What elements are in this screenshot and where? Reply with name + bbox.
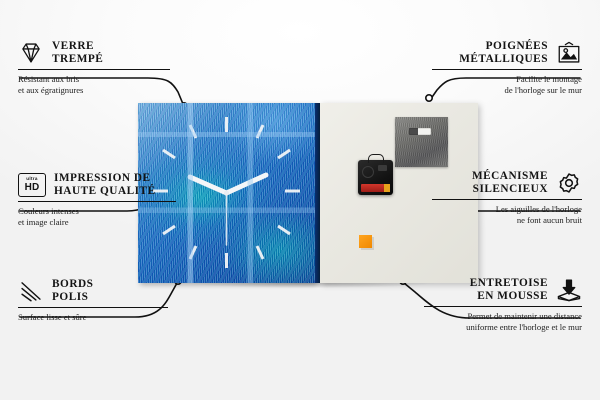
feature-header: POIGNÉES MÉTALLIQUES: [432, 40, 582, 66]
desc-line-2: de l'horloge sur le mur: [432, 85, 582, 96]
feature-description: Résistant aux bris et aux égratignures: [18, 74, 170, 95]
feature-header: ultra HD IMPRESSION DE HAUTE QUALITÉ: [18, 172, 176, 198]
divider: [18, 307, 168, 308]
title-line-2: HAUTE QUALITÉ: [54, 185, 156, 198]
feature-header: MÉCANISME SILENCIEUX: [432, 170, 582, 196]
desc-line-1: Facilite le montage: [432, 74, 582, 85]
desc-line-1: Les aiguilles de l'horloge: [432, 204, 582, 215]
feature-description: Couleurs intenses et image claire: [18, 206, 176, 227]
quartz-mechanism: [358, 160, 393, 195]
feature-description: Facilite le montage de l'horloge sur le …: [432, 74, 582, 95]
feature-title: MÉCANISME SILENCIEUX: [472, 170, 548, 196]
hd-label: HD: [25, 183, 40, 193]
battery: [361, 184, 390, 192]
feature-header: ENTRETOISE EN MOUSSE: [424, 277, 582, 303]
title-line-2: TREMPÉ: [52, 53, 103, 66]
feature-title: IMPRESSION DE HAUTE QUALITÉ: [54, 172, 156, 198]
clock-hour-hand: [190, 177, 227, 193]
infographic-canvas: VERRE TREMPÉ Résistant aux bris et aux é…: [0, 0, 600, 400]
divider: [432, 199, 582, 200]
metal-hanger-plate: [395, 117, 448, 167]
divider: [18, 69, 170, 70]
title-line-1: IMPRESSION DE: [54, 172, 156, 185]
desc-line-1: Couleurs intenses: [18, 206, 176, 217]
product-clock: [138, 103, 478, 283]
feature-header: BORDS POLIS: [18, 278, 168, 304]
diamond-icon: [18, 40, 44, 66]
desc-line-2: et image claire: [18, 217, 176, 228]
title-line-1: VERRE: [52, 40, 103, 53]
feature-print-quality: ultra HD IMPRESSION DE HAUTE QUALITÉ Cou…: [18, 172, 176, 228]
feature-foam-spacer: ENTRETOISE EN MOUSSE Permet de maintenir…: [424, 277, 582, 333]
hanger-slot: [409, 128, 431, 135]
feature-description: Permet de maintenir une distance uniform…: [424, 311, 582, 332]
desc-line-1: Permet de maintenir une distance: [424, 311, 582, 322]
feature-title: POIGNÉES MÉTALLIQUES: [459, 40, 548, 66]
title-line-2: POLIS: [52, 291, 93, 304]
title-line-2: MÉTALLIQUES: [459, 53, 548, 66]
feature-polished-edges: BORDS POLIS Surface lisse et sûre: [18, 278, 168, 323]
clock-minute-hand: [227, 175, 267, 193]
mechanism-chip: [378, 165, 387, 171]
desc-line-2: et aux égratignures: [18, 85, 170, 96]
feature-description: Les aiguilles de l'horloge ne font aucun…: [432, 204, 582, 225]
title-line-1: MÉCANISME: [472, 170, 548, 183]
title-line-1: ENTRETOISE: [470, 277, 548, 290]
framed-picture-hanger-icon: [556, 40, 582, 66]
mechanism-hook: [368, 154, 384, 163]
feature-title: VERRE TREMPÉ: [52, 40, 103, 66]
feature-title: ENTRETOISE EN MOUSSE: [470, 277, 548, 303]
divider: [18, 201, 176, 202]
feature-tempered-glass: VERRE TREMPÉ Résistant aux bris et aux é…: [18, 40, 170, 96]
diagonal-lines-icon: [18, 278, 44, 304]
title-line-2: EN MOUSSE: [470, 290, 548, 303]
foam-spacer: [359, 235, 372, 248]
mechanism-dial: [362, 166, 374, 178]
feature-silent-mechanism: MÉCANISME SILENCIEUX Les aiguilles de l'…: [432, 170, 582, 226]
desc-line-1: Surface lisse et sûre: [18, 312, 168, 323]
desc-line-2: uniforme entre l'horloge et le mur: [424, 322, 582, 333]
feature-header: VERRE TREMPÉ: [18, 40, 170, 66]
ultra-hd-icon: ultra HD: [18, 173, 46, 197]
desc-line-2: ne font aucun bruit: [432, 215, 582, 226]
feature-metal-handles: POIGNÉES MÉTALLIQUES Facilite le montage…: [432, 40, 582, 96]
title-line-2: SILENCIEUX: [472, 183, 548, 196]
divider: [432, 69, 582, 70]
desc-line-1: Résistant aux bris: [18, 74, 170, 85]
callout-marker-metal-handles: [426, 95, 432, 101]
title-line-1: POIGNÉES: [459, 40, 548, 53]
title-line-1: BORDS: [52, 278, 93, 291]
feature-title: BORDS POLIS: [52, 278, 93, 304]
gear-icon: [556, 170, 582, 196]
arrow-down-pad-icon: [556, 277, 582, 303]
feature-description: Surface lisse et sûre: [18, 312, 168, 323]
divider: [424, 306, 582, 307]
